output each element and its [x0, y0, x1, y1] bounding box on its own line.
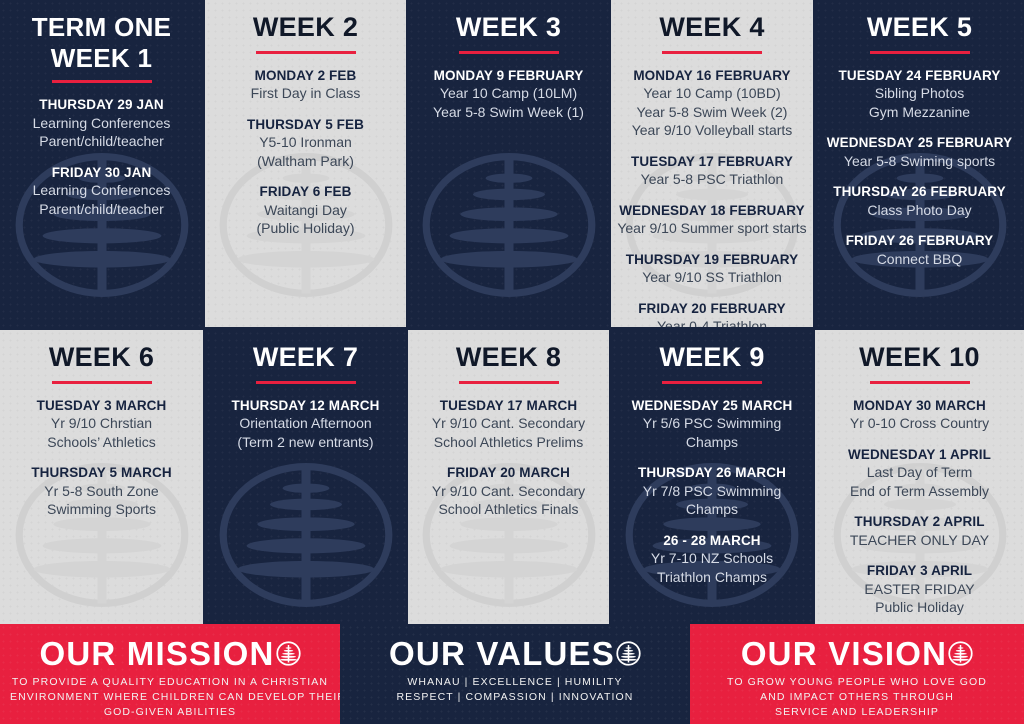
- banner-subtext-line: WHANAU | EXCELLENCE | HUMILITY: [350, 675, 680, 690]
- week-panel: WEEK 9WEDNESDAY 25 MARCHYr 5/6 PSC Swimm…: [611, 330, 813, 624]
- event-description-line: Yr 9/10 Cant. Secondary: [414, 482, 603, 500]
- event-description-line: School Athletics Finals: [414, 500, 603, 518]
- banner-heading-text: OUR MISSION: [39, 637, 274, 670]
- event-list: MONDAY 9 FEBRUARYYear 10 Camp (10LM)Year…: [414, 67, 603, 121]
- event-entry: TUESDAY 17 MARCHYr 9/10 Cant. SecondaryS…: [414, 397, 603, 451]
- event-entry: FRIDAY 26 FEBRUARYConnect BBQ: [821, 232, 1018, 268]
- event-description-line: Year 9/10 Volleyball starts: [617, 121, 807, 139]
- week-title: WEEK 8: [414, 338, 603, 374]
- event-entry: WEDNESDAY 1 APRILLast Day of TermEnd of …: [821, 446, 1018, 500]
- event-date: TUESDAY 17 FEBRUARY: [617, 153, 807, 171]
- week-title: WEEK 2: [211, 8, 400, 44]
- event-description-line: Schools’ Athletics: [6, 433, 197, 451]
- title-underline: [459, 381, 559, 384]
- week-title: WEEK 7: [211, 338, 400, 374]
- event-entry: TUESDAY 3 MARCHYr 9/10 ChrstianSchools’ …: [6, 397, 197, 451]
- event-entry: THURSDAY 12 MARCHOrientation Afternoon(T…: [211, 397, 400, 451]
- event-date: FRIDAY 3 APRIL: [821, 562, 1018, 580]
- week-title: TERM ONEWEEK 1: [6, 8, 197, 73]
- event-date: TUESDAY 3 MARCH: [6, 397, 197, 415]
- event-entry: THURSDAY 26 FEBRUARYClass Photo Day: [821, 183, 1018, 219]
- event-date: WEDNESDAY 25 MARCH: [617, 397, 807, 415]
- event-description-line: Gym Mezzanine: [821, 103, 1018, 121]
- event-date: MONDAY 2 FEB: [211, 67, 400, 85]
- week-title-line: WEEK 6: [6, 342, 197, 374]
- week-panel: WEEK 7THURSDAY 12 MARCHOrientation After…: [205, 330, 406, 624]
- title-underline: [256, 51, 356, 54]
- event-date: THURSDAY 5 MARCH: [6, 464, 197, 482]
- banner-subtext-line: SERVICE AND LEADERSHIP: [700, 705, 1014, 720]
- event-entry: THURSDAY 5 MARCHYr 5-8 South ZoneSwimmin…: [6, 464, 197, 518]
- event-list: THURSDAY 29 JANLearning ConferencesParen…: [6, 96, 197, 218]
- event-description-line: Yr 9/10 Chrstian: [6, 414, 197, 432]
- event-date: MONDAY 9 FEBRUARY: [414, 67, 603, 85]
- school-tree-watermark-icon: [216, 445, 396, 624]
- event-entry: 26 - 28 MARCHYr 7-10 NZ SchoolsTriathlon…: [617, 532, 807, 586]
- event-entry: TUESDAY 24 FEBRUARYSibling PhotosGym Mez…: [821, 67, 1018, 121]
- event-date: TUESDAY 24 FEBRUARY: [821, 67, 1018, 85]
- event-description-line: Last Day of Term: [821, 463, 1018, 481]
- week-panel: WEEK 2MONDAY 2 FEBFirst Day in ClassTHUR…: [205, 0, 406, 327]
- event-description-line: Yr 5-8 South Zone: [6, 482, 197, 500]
- week-title: WEEK 10: [821, 338, 1018, 374]
- event-description-line: Y5-10 Ironman: [211, 133, 400, 151]
- event-entry: THURSDAY 29 JANLearning ConferencesParen…: [6, 96, 197, 150]
- event-description-line: Year 0-4 Triathlon: [617, 317, 807, 327]
- event-description-line: Triathlon Champs: [617, 568, 807, 586]
- banner-subtext: WHANAU | EXCELLENCE | HUMILITYRESPECT | …: [340, 675, 690, 705]
- banner-subtext: TO PROVIDE A QUALITY EDUCATION IN A CHRI…: [0, 675, 340, 721]
- banner-heading-text: OUR VISION: [741, 637, 947, 670]
- event-description-line: Champs: [617, 433, 807, 451]
- event-description-line: Yr 7/8 PSC Swimming: [617, 482, 807, 500]
- event-description-line: Sibling Photos: [821, 84, 1018, 102]
- week-panel: WEEK 3MONDAY 9 FEBRUARYYear 10 Camp (10L…: [408, 0, 609, 327]
- banner-our-vision: OUR VISION TO GROW YOUNG PEOPLE WHO LOVE…: [690, 624, 1024, 724]
- week-title: WEEK 3: [414, 8, 603, 44]
- event-list: MONDAY 2 FEBFirst Day in ClassTHURSDAY 5…: [211, 67, 400, 238]
- event-description-line: (Term 2 new entrants): [211, 433, 400, 451]
- title-underline: [52, 80, 152, 83]
- event-description-line: Waitangi Day: [211, 201, 400, 219]
- school-tree-logo-icon: [276, 641, 301, 666]
- week-panel: WEEK 8TUESDAY 17 MARCHYr 9/10 Cant. Seco…: [408, 330, 609, 624]
- title-underline: [256, 381, 356, 384]
- title-underline: [662, 51, 762, 54]
- week-title-line: WEEK 7: [211, 342, 400, 374]
- week-title-line: WEEK 4: [617, 12, 807, 44]
- event-description-line: Yr 9/10 Cant. Secondary: [414, 414, 603, 432]
- banner-subtext-line: GOD-GIVEN ABILITIES: [10, 705, 330, 720]
- event-date: THURSDAY 2 APRIL: [821, 513, 1018, 531]
- event-list: THURSDAY 12 MARCHOrientation Afternoon(T…: [211, 397, 400, 451]
- event-description-line: Parent/child/teacher: [6, 132, 197, 150]
- event-entry: THURSDAY 2 APRILTEACHER ONLY DAY: [821, 513, 1018, 549]
- title-underline: [52, 381, 152, 384]
- bottom-banner-row: OUR MISSION TO PROVIDE A QUALITY EDUCATI…: [0, 624, 1024, 724]
- event-date: THURSDAY 19 FEBRUARY: [617, 251, 807, 269]
- event-date: THURSDAY 12 MARCH: [211, 397, 400, 415]
- banner-subtext-line: AND IMPACT OTHERS THROUGH: [700, 690, 1014, 705]
- event-date: WEDNESDAY 1 APRIL: [821, 446, 1018, 464]
- week-panel: TERM ONEWEEK 1THURSDAY 29 JANLearning Co…: [0, 0, 203, 327]
- banner-subtext-line: TO GROW YOUNG PEOPLE WHO LOVE GOD: [700, 675, 1014, 690]
- event-list: MONDAY 16 FEBRUARYYear 10 Camp (10BD)Yea…: [617, 67, 807, 327]
- event-date: THURSDAY 29 JAN: [6, 96, 197, 114]
- event-description-line: Yr 7-10 NZ Schools: [617, 549, 807, 567]
- banner-subtext-line: TO PROVIDE A QUALITY EDUCATION IN A CHRI…: [10, 675, 330, 690]
- event-list: TUESDAY 24 FEBRUARYSibling PhotosGym Mez…: [821, 67, 1018, 269]
- event-description-line: First Day in Class: [211, 84, 400, 102]
- event-entry: THURSDAY 5 FEBY5-10 Ironman(Waltham Park…: [211, 116, 400, 170]
- week-title: WEEK 4: [617, 8, 807, 44]
- event-description-line: Year 10 Camp (10LM): [414, 84, 603, 102]
- event-list: WEDNESDAY 25 MARCHYr 5/6 PSC SwimmingCha…: [617, 397, 807, 586]
- week-title-line: WEEK 1: [6, 43, 197, 74]
- banner-our-values: OUR VALUES WHANAU | EXCELLENCE | HUMILIT…: [340, 624, 690, 724]
- event-date: 26 - 28 MARCH: [617, 532, 807, 550]
- event-entry: MONDAY 9 FEBRUARYYear 10 Camp (10LM)Year…: [414, 67, 603, 121]
- week-panel: WEEK 6TUESDAY 3 MARCHYr 9/10 ChrstianSch…: [0, 330, 203, 624]
- banner-heading: OUR VISION: [690, 637, 1024, 670]
- school-tree-watermark-icon: [419, 135, 599, 315]
- week-panel: WEEK 5TUESDAY 24 FEBRUARYSibling PhotosG…: [815, 0, 1024, 327]
- week-title: WEEK 5: [821, 8, 1018, 44]
- school-tree-logo-icon: [616, 641, 641, 666]
- event-entry: FRIDAY 20 MARCHYr 9/10 Cant. SecondarySc…: [414, 464, 603, 518]
- week-title-line: WEEK 10: [821, 342, 1018, 374]
- event-date: THURSDAY 26 MARCH: [617, 464, 807, 482]
- event-entry: MONDAY 16 FEBRUARYYear 10 Camp (10BD)Yea…: [617, 67, 807, 140]
- event-entry: FRIDAY 3 APRILEASTER FRIDAYPublic Holida…: [821, 562, 1018, 616]
- event-entry: FRIDAY 20 FEBRUARYYear 0-4 Triathlon: [617, 300, 807, 327]
- event-date: WEDNESDAY 25 FEBRUARY: [821, 134, 1018, 152]
- week-title-line: WEEK 8: [414, 342, 603, 374]
- event-list: TUESDAY 17 MARCHYr 9/10 Cant. SecondaryS…: [414, 397, 603, 519]
- event-entry: MONDAY 2 FEBFirst Day in Class: [211, 67, 400, 103]
- title-underline: [459, 51, 559, 54]
- event-entry: FRIDAY 6 FEBWaitangi Day(Public Holiday): [211, 183, 400, 237]
- week-title-line: WEEK 9: [617, 342, 807, 374]
- event-entry: THURSDAY 26 MARCHYr 7/8 PSC SwimmingCham…: [617, 464, 807, 518]
- banner-our-mission: OUR MISSION TO PROVIDE A QUALITY EDUCATI…: [0, 624, 340, 724]
- banner-subtext-line: RESPECT | COMPASSION | INNOVATION: [350, 690, 680, 705]
- event-date: THURSDAY 26 FEBRUARY: [821, 183, 1018, 201]
- banner-subtext-line: ENVIRONMENT WHERE CHILDREN CAN DEVELOP T…: [10, 690, 330, 705]
- week-title-line: WEEK 5: [821, 12, 1018, 44]
- event-date: MONDAY 30 MARCH: [821, 397, 1018, 415]
- event-entry: WEDNESDAY 25 MARCHYr 5/6 PSC SwimmingCha…: [617, 397, 807, 451]
- term-calendar-grid: TERM ONEWEEK 1THURSDAY 29 JANLearning Co…: [0, 0, 1024, 624]
- event-date: MONDAY 16 FEBRUARY: [617, 67, 807, 85]
- event-entry: MONDAY 30 MARCHYr 0-10 Cross Country: [821, 397, 1018, 433]
- event-description-line: Yr 0-10 Cross Country: [821, 414, 1018, 432]
- event-entry: WEDNESDAY 25 FEBRUARYYear 5-8 Swiming sp…: [821, 134, 1018, 170]
- event-date: FRIDAY 20 MARCH: [414, 464, 603, 482]
- event-description-line: Yr 5/6 PSC Swimming: [617, 414, 807, 432]
- week-panel: WEEK 4MONDAY 16 FEBRUARYYear 10 Camp (10…: [611, 0, 813, 327]
- event-entry: FRIDAY 30 JANLearning ConferencesParent/…: [6, 164, 197, 218]
- title-underline: [662, 381, 762, 384]
- week-panel: WEEK 10MONDAY 30 MARCHYr 0-10 Cross Coun…: [815, 330, 1024, 624]
- event-description-line: Year 5-8 Swim Week (1): [414, 103, 603, 121]
- event-date: FRIDAY 26 FEBRUARY: [821, 232, 1018, 250]
- title-underline: [870, 51, 970, 54]
- title-underline: [870, 381, 970, 384]
- week-title: WEEK 9: [617, 338, 807, 374]
- event-date: TUESDAY 17 MARCH: [414, 397, 603, 415]
- event-description-line: Year 9/10 Summer sport starts: [617, 219, 807, 237]
- banner-heading-text: OUR VALUES: [389, 637, 615, 670]
- banner-subtext: TO GROW YOUNG PEOPLE WHO LOVE GODAND IMP…: [690, 675, 1024, 721]
- event-entry: TUESDAY 17 FEBRUARYYear 5-8 PSC Triathlo…: [617, 153, 807, 189]
- event-description-line: TEACHER ONLY DAY: [821, 531, 1018, 549]
- school-tree-logo-icon: [948, 641, 973, 666]
- event-description-line: Learning Conferences: [6, 114, 197, 132]
- event-description-line: Class Photo Day: [821, 201, 1018, 219]
- event-description-line: Year 10 Camp (10BD): [617, 84, 807, 102]
- event-description-line: Learning Conferences: [6, 181, 197, 199]
- event-description-line: Year 9/10 SS Triathlon: [617, 268, 807, 286]
- banner-heading: OUR MISSION: [0, 637, 340, 670]
- event-description-line: (Waltham Park): [211, 152, 400, 170]
- event-description-line: Orientation Afternoon: [211, 414, 400, 432]
- event-description-line: Swimming Sports: [6, 500, 197, 518]
- event-date: THURSDAY 5 FEB: [211, 116, 400, 134]
- week-title-line: TERM ONE: [6, 12, 197, 43]
- event-entry: WEDNESDAY 18 FEBRUARYYear 9/10 Summer sp…: [617, 202, 807, 238]
- event-description-line: Year 5-8 Swim Week (2): [617, 103, 807, 121]
- event-description-line: (Public Holiday): [211, 219, 400, 237]
- event-description-line: Year 5-8 Swiming sports: [821, 152, 1018, 170]
- event-date: FRIDAY 6 FEB: [211, 183, 400, 201]
- banner-heading: OUR VALUES: [340, 637, 690, 670]
- event-description-line: End of Term Assembly: [821, 482, 1018, 500]
- week-title-line: WEEK 2: [211, 12, 400, 44]
- event-date: FRIDAY 30 JAN: [6, 164, 197, 182]
- event-description-line: Connect BBQ: [821, 250, 1018, 268]
- event-description-line: School Athletics Prelims: [414, 433, 603, 451]
- event-date: WEDNESDAY 18 FEBRUARY: [617, 202, 807, 220]
- week-title: WEEK 6: [6, 338, 197, 374]
- event-description-line: Year 5-8 PSC Triathlon: [617, 170, 807, 188]
- event-description-line: Champs: [617, 500, 807, 518]
- event-description-line: EASTER FRIDAY: [821, 580, 1018, 598]
- week-title-line: WEEK 3: [414, 12, 603, 44]
- event-list: MONDAY 30 MARCHYr 0-10 Cross CountryWEDN…: [821, 397, 1018, 617]
- event-date: FRIDAY 20 FEBRUARY: [617, 300, 807, 318]
- event-list: TUESDAY 3 MARCHYr 9/10 ChrstianSchools’ …: [6, 397, 197, 519]
- event-description-line: Public Holiday: [821, 598, 1018, 616]
- event-entry: THURSDAY 19 FEBRUARYYear 9/10 SS Triathl…: [617, 251, 807, 287]
- event-description-line: Parent/child/teacher: [6, 200, 197, 218]
